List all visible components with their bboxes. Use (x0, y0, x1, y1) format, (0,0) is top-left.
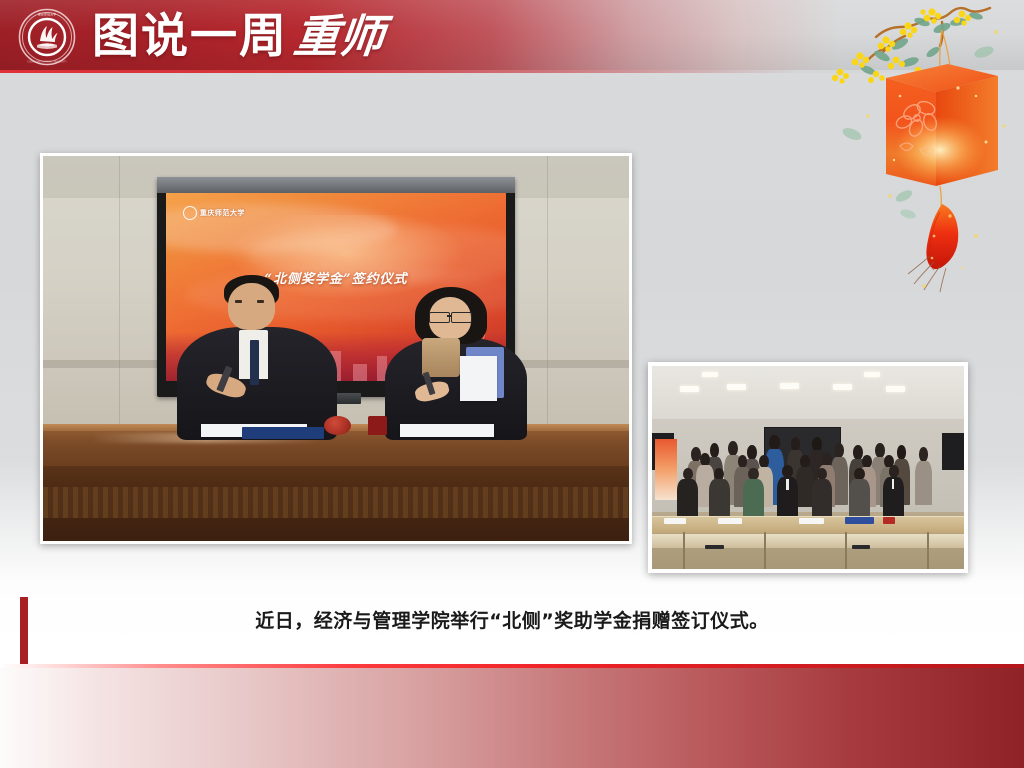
svg-text:重庆师范大学: 重庆师范大学 (38, 11, 57, 16)
page-title-main: 图说一周 (92, 13, 288, 60)
seal-stamp (368, 416, 387, 435)
bottom-gradient-band (0, 668, 1024, 768)
conference-table-back (652, 534, 964, 547)
signer-right (371, 287, 541, 437)
slide-root: 重庆师范大学 CHONGQING NORMAL UNIVERSITY 图说一周 … (0, 0, 1024, 768)
signing-document-right (400, 424, 494, 437)
signer-left (166, 275, 348, 437)
photo-caption: 近日，经济与管理学院举行“北侧”奖助学金捐赠签订仪式。 (0, 606, 1024, 633)
room-ceiling (652, 366, 964, 419)
roll-up-banner (655, 439, 677, 500)
wall-panel-right (942, 433, 964, 470)
page-title: 图说一周 重师 (92, 7, 384, 65)
board-top-trim (157, 177, 514, 192)
screen-logo-text: 重庆师范大学 (200, 208, 245, 218)
head-table-panel (43, 487, 629, 518)
screen-university-logo: 重庆师范大学 (183, 206, 245, 220)
screen-logo-mark-icon (183, 206, 197, 220)
group-photo-content (652, 366, 964, 569)
signing-ceremony-photo[interactable]: 重庆师范大学 “北侧奖学金”签约仪式 (40, 153, 632, 544)
group-photo[interactable] (648, 362, 968, 573)
university-seal-icon: 重庆师范大学 CHONGQING NORMAL UNIVERSITY (18, 8, 76, 66)
page-title-brush: 重师 (292, 14, 387, 59)
signing-folder-left (242, 427, 324, 439)
svg-text:CHONGQING NORMAL UNIVERSITY: CHONGQING NORMAL UNIVERSITY (27, 61, 67, 64)
header-bottom-rule (0, 70, 1024, 73)
signing-ceremony-photo-content: 重庆师范大学 “北侧奖学金”签约仪式 (43, 156, 629, 541)
